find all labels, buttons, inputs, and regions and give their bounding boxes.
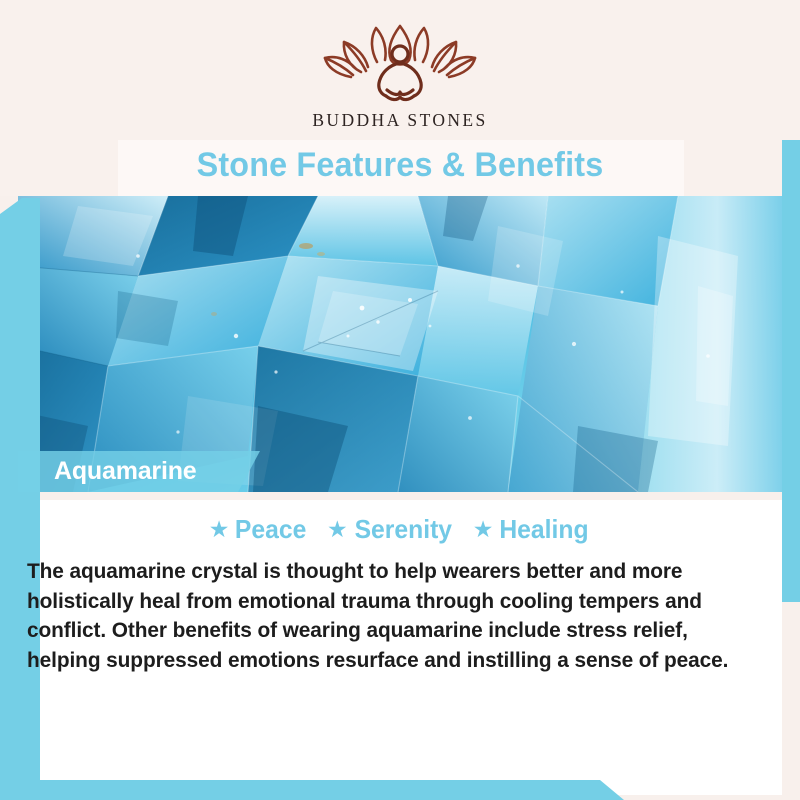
- feature-label: Peace: [235, 514, 306, 544]
- feature-item-serenity: ★Serenity: [327, 514, 454, 544]
- page-title: Stone Features & Benefits: [20, 146, 780, 185]
- brand-logo: BUDDHA STONES: [0, 22, 800, 131]
- crystal-illustration: [18, 196, 782, 492]
- feature-item-healing: ★Healing: [473, 514, 592, 544]
- infographic-card: BUDDHA STONES Stone Features & Benefits: [0, 0, 800, 800]
- stone-description: The aquamarine crystal is thought to hel…: [27, 557, 756, 675]
- feature-item-peace: ★Peace: [209, 514, 309, 544]
- feature-label: Healing: [500, 514, 589, 544]
- feature-label: Serenity: [354, 514, 451, 544]
- lotus-meditation-icon: [315, 22, 485, 108]
- star-icon: ★: [327, 514, 348, 544]
- brand-name: BUDDHA STONES: [0, 110, 800, 131]
- star-icon: ★: [209, 514, 230, 544]
- star-icon: ★: [473, 514, 494, 544]
- accent-strip-left: [0, 198, 40, 798]
- stone-name-label: Aquamarine: [54, 456, 196, 486]
- accent-strip-bottom: [0, 780, 624, 800]
- feature-list: ★Peace ★Serenity ★Healing: [0, 514, 800, 544]
- aquamarine-crystal-photo: [18, 196, 782, 492]
